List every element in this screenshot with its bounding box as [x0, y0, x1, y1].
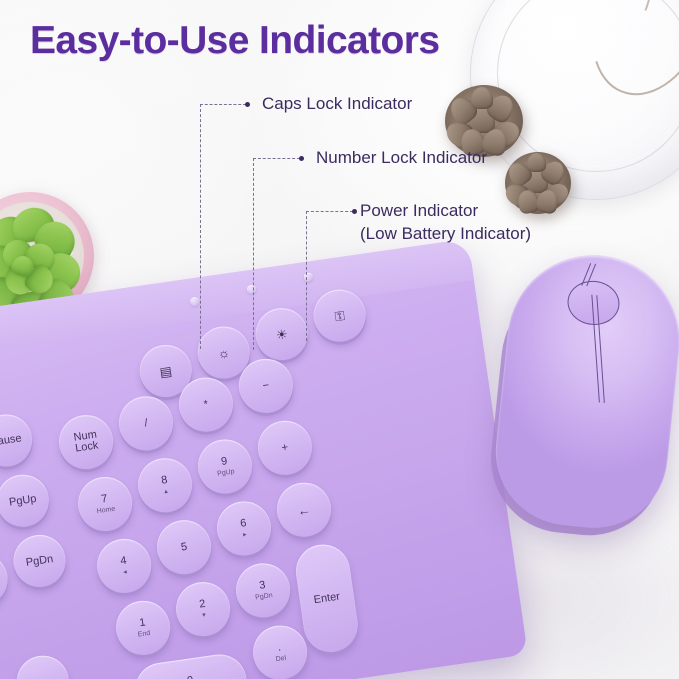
key-label: * — [203, 399, 209, 410]
key-label: / — [144, 418, 149, 429]
power-leader-h — [306, 211, 353, 212]
key-sublabel: ▸ — [243, 531, 248, 539]
caps-lock-leader-v — [200, 104, 201, 349]
key-label: . — [277, 642, 282, 653]
key-sublabel: Del — [275, 654, 287, 663]
key-sublabel: ▴ — [164, 487, 169, 495]
brightness-down-icon: ☼ — [217, 345, 231, 360]
power-leader-v — [306, 211, 307, 341]
key-label: 3 — [259, 580, 267, 592]
key-label: + — [281, 442, 289, 454]
page-title: Easy-to-Use Indicators — [30, 19, 439, 63]
caps-lock-leader-dot — [245, 102, 250, 107]
key-sublabel: Lock — [75, 440, 100, 454]
lock-icon: ⚿ — [334, 308, 346, 322]
callout-power-line2: (Low Battery Indicator) — [360, 222, 531, 245]
key-sublabel: End — [137, 629, 150, 639]
key-sublabel: ◂ — [123, 568, 128, 576]
arrow-left-icon: ▸ — [39, 675, 47, 679]
wireless-mouse[interactable] — [488, 247, 679, 538]
backspace-icon: ← — [297, 502, 312, 517]
number-lock-leader-h — [253, 158, 300, 159]
product-infographic: ▤ ☼ ☀ ⚿ PrtScn ScrLk Pause Insert Home P… — [0, 0, 679, 679]
key-sublabel: PgDn — [255, 592, 273, 602]
key-label: 8 — [161, 474, 169, 486]
key-label: 6 — [239, 518, 247, 530]
wireless-keyboard[interactable]: ▤ ☼ ☀ ⚿ PrtScn ScrLk Pause Insert Home P… — [0, 233, 569, 679]
key-label: 0 — [186, 675, 194, 679]
key-label: − — [262, 380, 270, 392]
key-label: 7 — [101, 493, 109, 505]
callout-power-line1: Power Indicator — [360, 199, 531, 222]
key-label: 9 — [220, 456, 228, 468]
key-label: 2 — [199, 598, 207, 610]
calculator-icon: ▤ — [159, 364, 173, 379]
key-label: PgDn — [25, 554, 54, 569]
key-sublabel: Home — [96, 505, 116, 516]
key-label: Pause — [0, 433, 22, 448]
key-label: 4 — [120, 555, 128, 567]
callout-label-power: Power Indicator (Low Battery Indicator) — [360, 199, 531, 245]
key-label: 5 — [180, 541, 188, 553]
key-sublabel: ▾ — [202, 611, 207, 619]
power-leader-dot — [352, 209, 357, 214]
number-lock-leader-v — [253, 158, 254, 350]
key-label: Enter — [313, 591, 341, 606]
key-sublabel: PgUp — [217, 468, 235, 478]
brightness-up-icon: ☀ — [275, 327, 288, 342]
callout-label-number-lock: Number Lock Indicator — [316, 147, 487, 168]
callout-label-caps-lock: Caps Lock Indicator — [262, 93, 412, 114]
number-lock-leader-dot — [299, 156, 304, 161]
key-label: PgUp — [8, 493, 37, 508]
key-label: 1 — [139, 617, 147, 629]
caps-lock-leader-h — [200, 104, 246, 105]
